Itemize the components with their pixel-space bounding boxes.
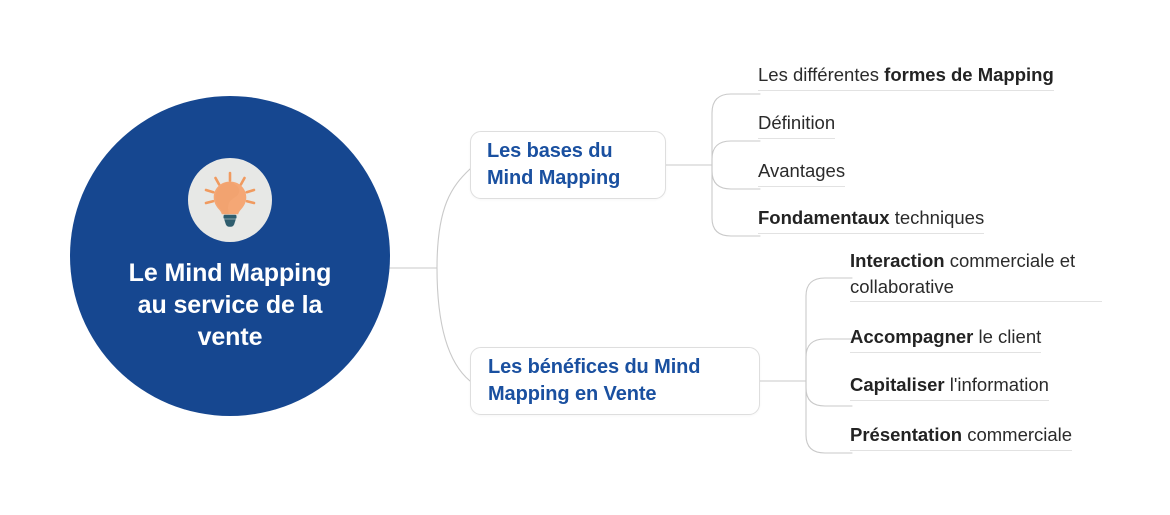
branch-node-bases[interactable]: Les bases du Mind Mapping	[470, 131, 666, 199]
leaf-item[interactable]: Accompagner le client	[850, 324, 1041, 353]
leaf-text-emphasis: Fondamentaux	[758, 207, 890, 228]
leaf-text-tail: l'information	[945, 374, 1049, 395]
leaf-text: Définition	[758, 112, 835, 133]
leaf-text-tail: commerciale	[962, 424, 1072, 445]
leaf-item[interactable]: Interaction commerciale et collaborative	[850, 248, 1102, 302]
root-label: Le Mind Mapping au service de la vente	[129, 258, 332, 353]
branch-node-benefices[interactable]: Les bénéfices du Mind Mapping en Vente	[470, 347, 760, 415]
leaf-text-emphasis: Capitaliser	[850, 374, 945, 395]
leaf-item[interactable]: Définition	[758, 110, 835, 139]
branch-label: Les bases du Mind Mapping	[487, 138, 620, 191]
leaf-text-emphasis: formes de Mapping	[884, 64, 1054, 85]
lightbulb-icon	[188, 158, 272, 242]
branch-label: Les bénéfices du Mind Mapping en Vente	[488, 354, 700, 407]
leaf-text: Les différentes	[758, 64, 884, 85]
leaf-item[interactable]: Les différentes formes de Mapping	[758, 62, 1054, 91]
leaf-item[interactable]: Capitaliser l'information	[850, 372, 1049, 401]
mindmap-canvas: Le Mind Mapping au service de la vente L…	[0, 0, 1170, 515]
leaf-text: Avantages	[758, 160, 845, 181]
leaf-text-emphasis: Interaction	[850, 250, 945, 271]
leaf-item[interactable]: Présentation commerciale	[850, 422, 1072, 451]
leaf-text-emphasis: Accompagner	[850, 326, 973, 347]
leaf-text-tail: le client	[973, 326, 1041, 347]
leaf-text-emphasis: Présentation	[850, 424, 962, 445]
leaf-item[interactable]: Fondamentaux techniques	[758, 205, 984, 234]
leaf-text-tail: techniques	[890, 207, 985, 228]
leaf-item[interactable]: Avantages	[758, 158, 845, 187]
root-node[interactable]: Le Mind Mapping au service de la vente	[70, 96, 390, 416]
